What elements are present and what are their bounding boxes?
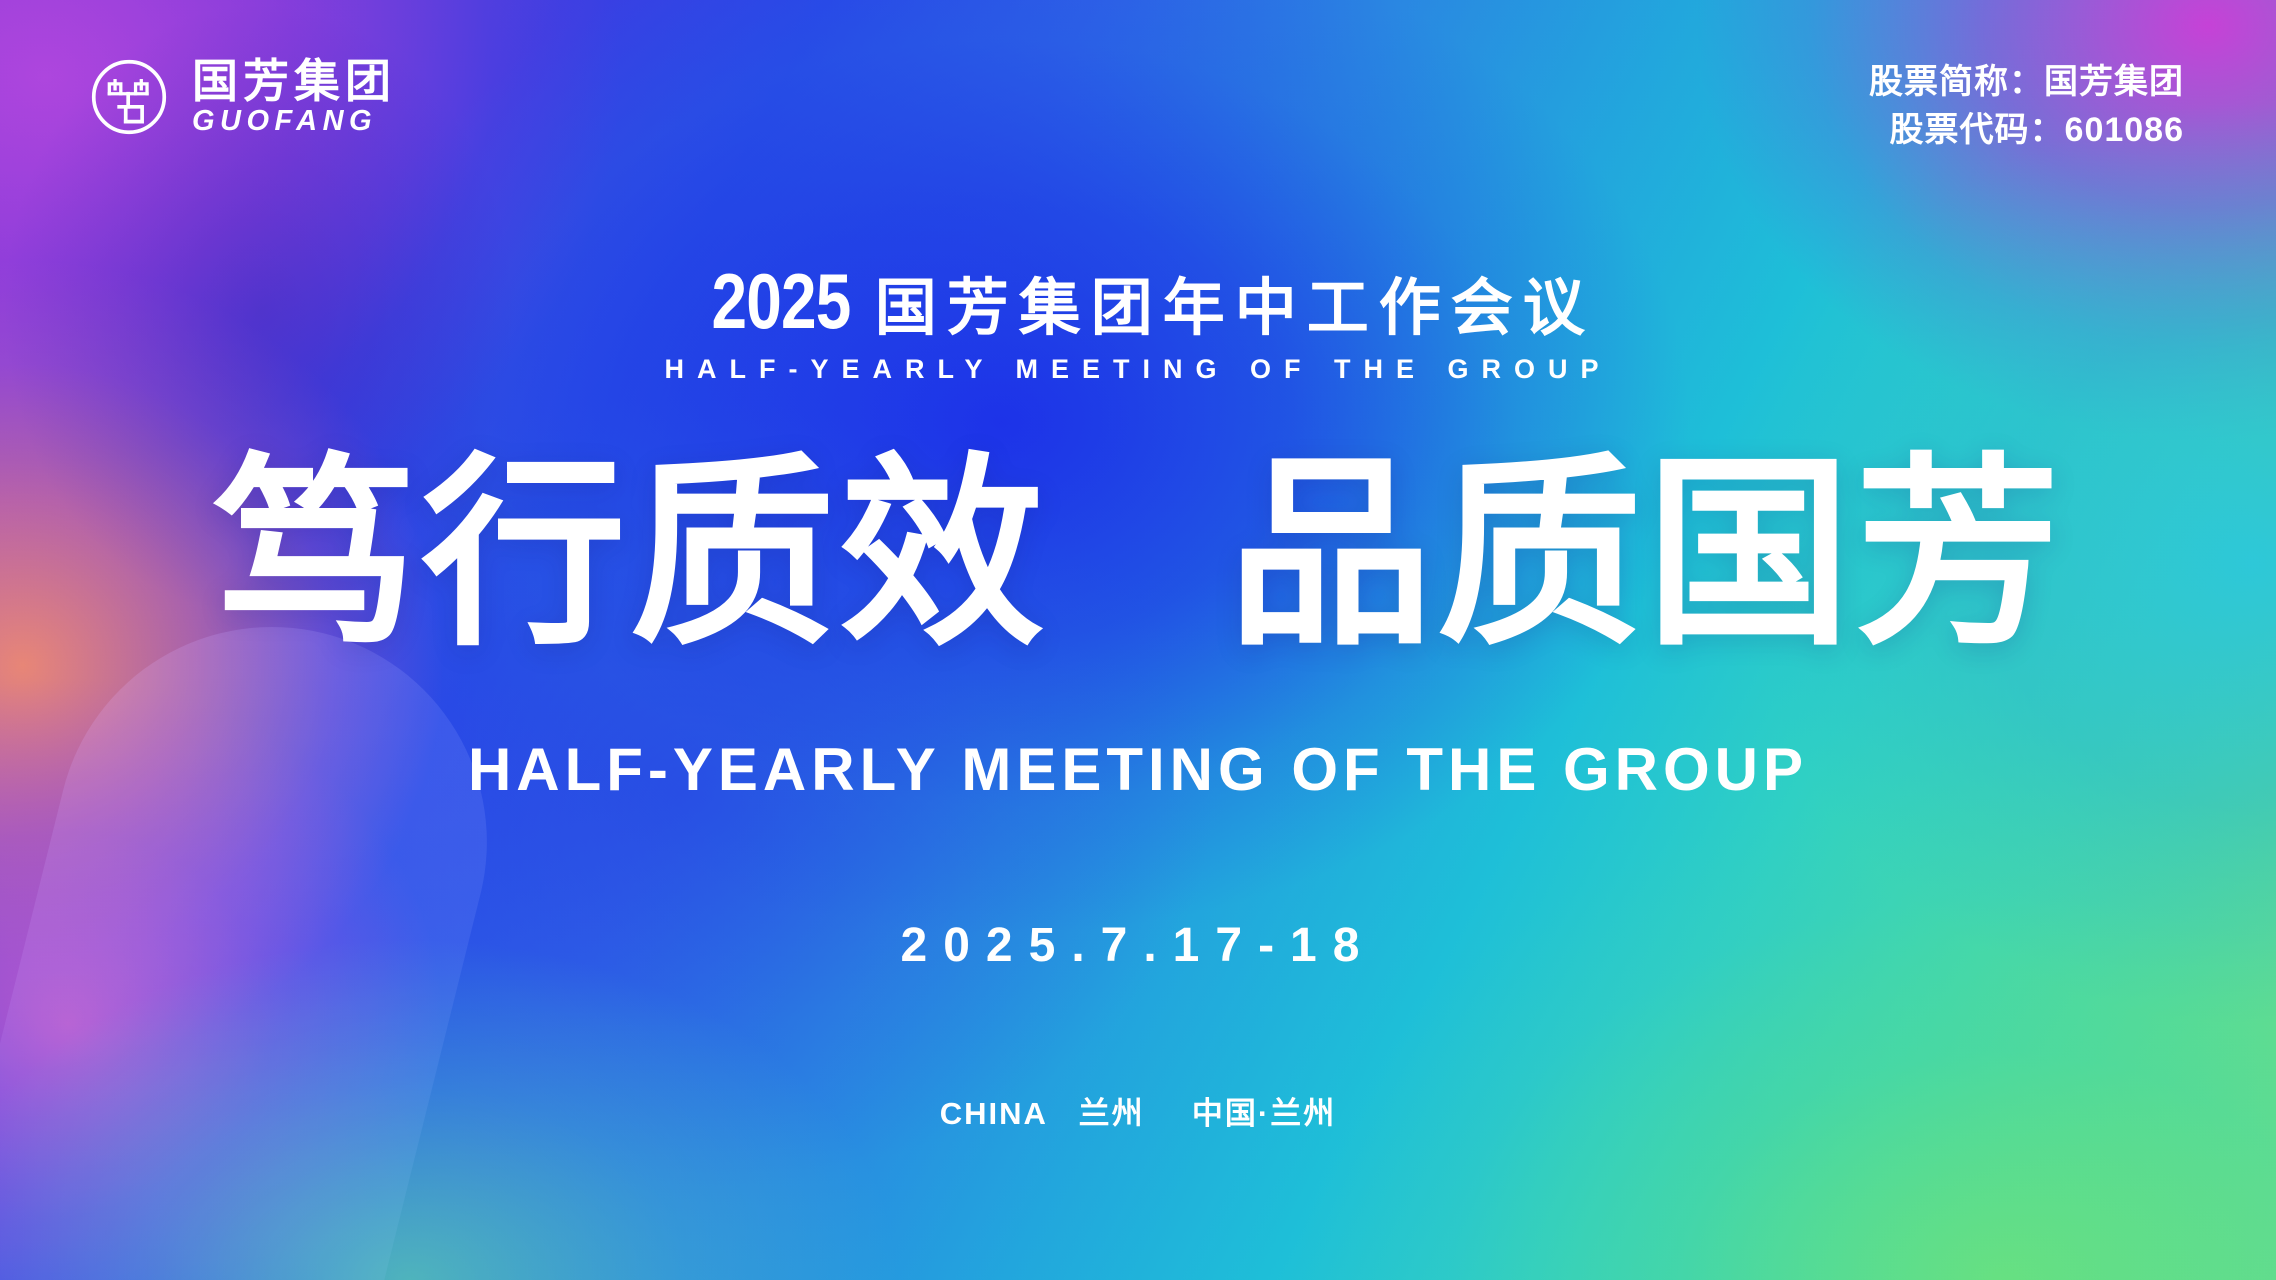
stock-info: 股票简称：国芳集团 股票代码：601086: [1869, 58, 2184, 155]
conference-banner: 国芳集团 GUOFANG 股票简称：国芳集团 股票代码：601086 2025 …: [0, 0, 2276, 1280]
slogan-part-2: 品质国芳: [1228, 440, 2064, 669]
stock-name-line: 股票简称：国芳集团: [1869, 58, 2184, 106]
event-date: 2025.7.17-18: [0, 918, 2276, 973]
main-slogan: 笃行质效 品质国芳: [0, 452, 2276, 657]
event-location: CHINA 兰州 中国·兰州: [0, 1088, 2276, 1133]
brand-logo: 国芳集团 GUOFANG: [88, 56, 396, 138]
location-city-cn: 兰州: [1079, 1096, 1145, 1131]
headline-subtitle-en: HALF-YEARLY MEETING OF THE GROUP: [0, 354, 2276, 385]
headline-title-cn: 国芳集团年中工作会议: [869, 278, 1595, 340]
brand-name-cn: 国芳集团: [192, 58, 396, 106]
location-full-cn: 中国·兰州: [1192, 1096, 1336, 1131]
guofang-deer-emblem-icon: [88, 56, 170, 138]
stock-code-line: 股票代码：601086: [1869, 106, 2184, 154]
headline-year: 2025: [712, 262, 851, 340]
slogan-english: HALF-YEARLY MEETING OF THE GROUP: [0, 735, 2276, 804]
brand-name-en: GUOFANG: [192, 107, 396, 136]
slogan-part-1: 笃行质效: [212, 440, 1048, 669]
location-country-en: CHINA: [940, 1096, 1047, 1131]
headline-block: 2025 国芳集团年中工作会议 HALF-YEARLY MEETING OF T…: [0, 262, 2276, 385]
